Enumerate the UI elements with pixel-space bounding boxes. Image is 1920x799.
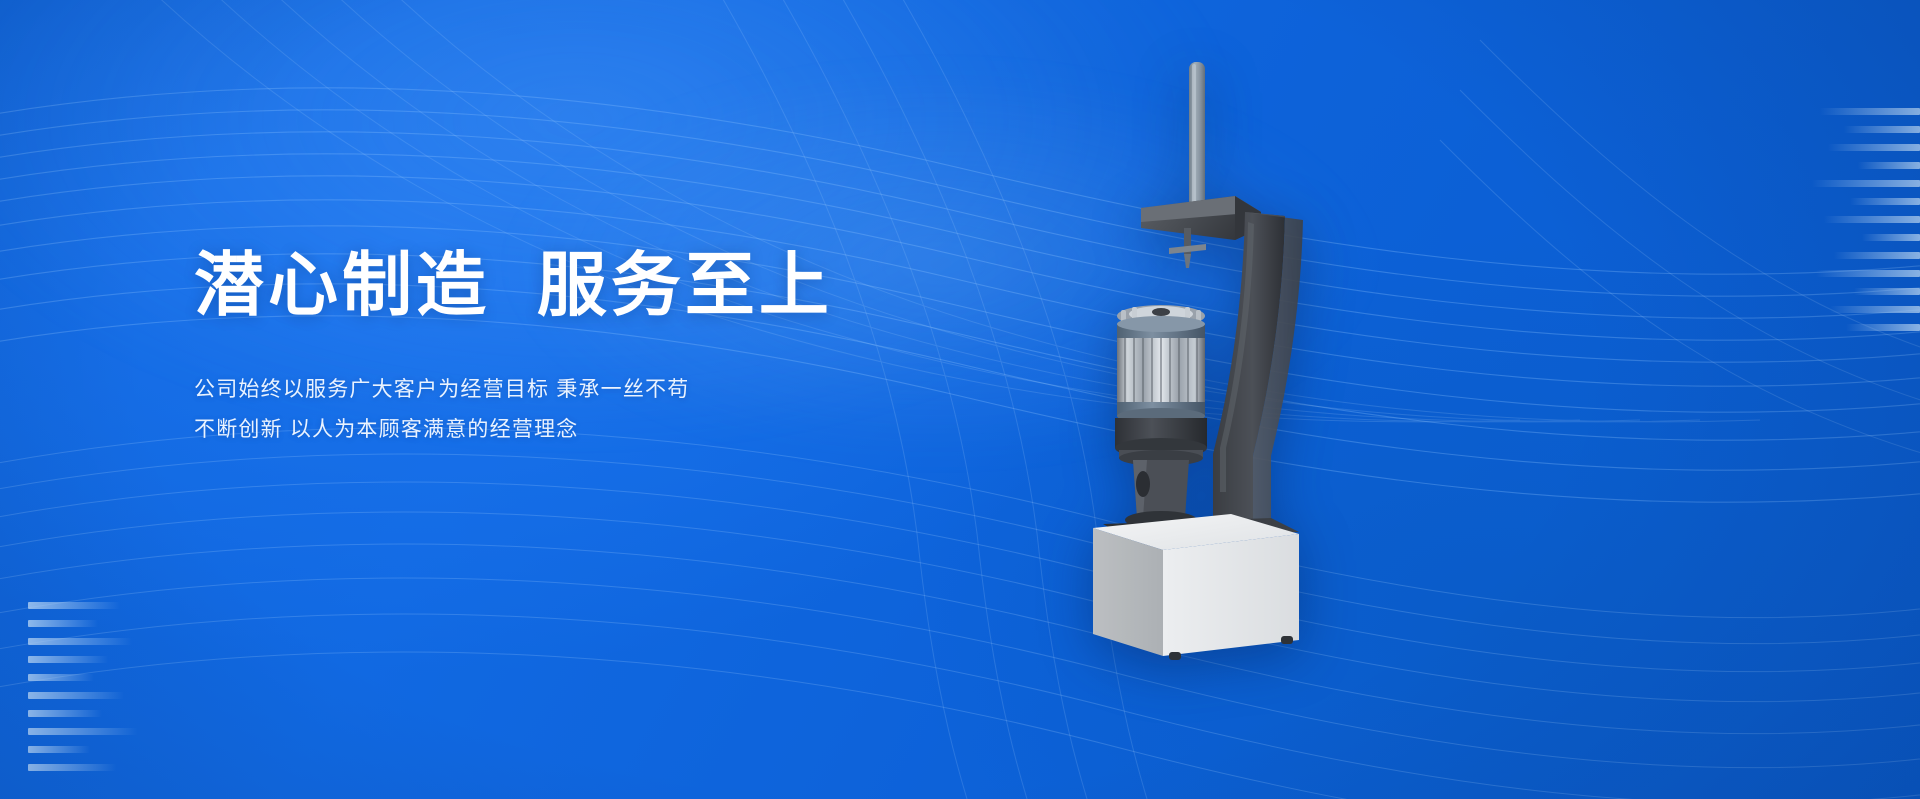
machine-overhead-arm (1141, 196, 1261, 268)
hero-banner: 潜心制造 服务至上 公司始终以服务广大客户为经营目标 秉承一丝不苟 不断创新 以… (0, 0, 1920, 799)
hero-subtitle: 公司始终以服务广大客户为经营目标 秉承一丝不苟 不断创新 以人为本顾客满意的经营… (194, 370, 954, 450)
stripe-decoration-right (1812, 108, 1920, 331)
machine-c-frame-column (1213, 212, 1303, 522)
stripe-decoration-left (28, 602, 138, 771)
machine-cabinet-base (1093, 514, 1299, 656)
machine-filter-cylinder (1117, 305, 1205, 424)
hero-subtitle-line-2: 不断创新 以人为本顾客满意的经营理念 (194, 410, 954, 450)
machine-vertical-shaft (1189, 62, 1205, 210)
hero-copy-block: 潜心制造 服务至上 公司始终以服务广大客户为经营目标 秉承一丝不苟 不断创新 以… (194, 246, 954, 450)
machine-hub-collar (1115, 418, 1207, 466)
hero-subtitle-line-1: 公司始终以服务广大客户为经营目标 秉承一丝不苟 (194, 370, 954, 410)
hero-headline: 潜心制造 服务至上 (194, 246, 954, 324)
product-machine-image (1085, 52, 1385, 662)
